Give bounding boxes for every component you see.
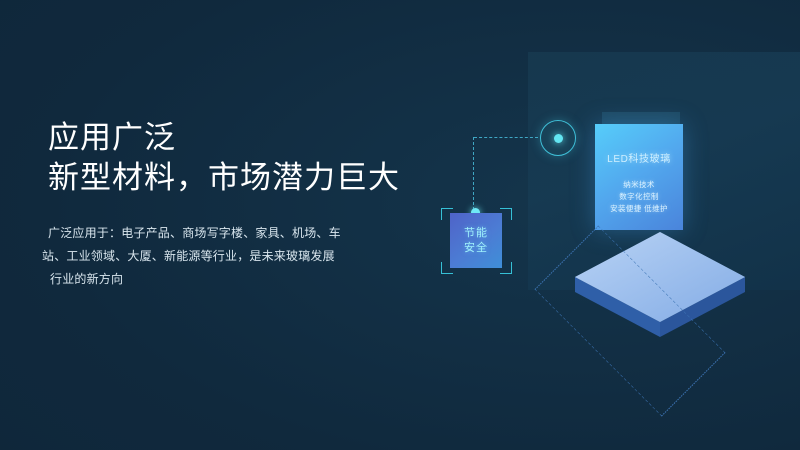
- body-paragraph: 广泛应用于：电子产品、商场写字楼、家具、机场、车 站、工业领域、大厦、新能源等行…: [48, 222, 378, 291]
- badge-label-line1: 节能: [464, 226, 488, 241]
- slide-canvas: 节能 安全 LED科技玻璃 纳米技术 数字化控制 安装便捷 低维护: [0, 0, 800, 450]
- headline-line-1: 应用广泛: [48, 118, 400, 158]
- body-line-2: 站、工业领域、大厦、新能源等行业，是未来玻璃发展: [42, 245, 378, 268]
- body-line-3: 行业的新方向: [50, 268, 378, 291]
- glass-card-feature-list: 纳米技术 数字化控制 安装便捷 低维护: [595, 179, 683, 215]
- body-line-1: 广泛应用于：电子产品、商场写字楼、家具、机场、车: [48, 222, 378, 245]
- badge-body: 节能 安全: [450, 213, 502, 268]
- page-title: 应用广泛 新型材料，市场潜力巨大: [48, 118, 400, 198]
- node-circle-icon[interactable]: [540, 120, 576, 156]
- glass-card-feature-1: 数字化控制: [595, 191, 683, 203]
- glass-card-title: LED科技玻璃: [595, 150, 683, 165]
- glass-card-feature-0: 纳米技术: [595, 179, 683, 191]
- headline-line-2: 新型材料，市场潜力巨大: [48, 158, 400, 198]
- feature-badge[interactable]: 节能 安全: [440, 205, 512, 280]
- glass-card-feature-2: 安装便捷 低维护: [595, 203, 683, 215]
- node-core-dot-icon: [554, 134, 563, 143]
- isometric-platform: [520, 225, 800, 345]
- connector-vertical-dashed-line: [473, 137, 474, 215]
- glass-product-card[interactable]: LED科技玻璃 纳米技术 数字化控制 安装便捷 低维护: [595, 124, 683, 230]
- badge-label-line2: 安全: [464, 241, 488, 256]
- connector-horizontal-dashed-line: [474, 137, 538, 138]
